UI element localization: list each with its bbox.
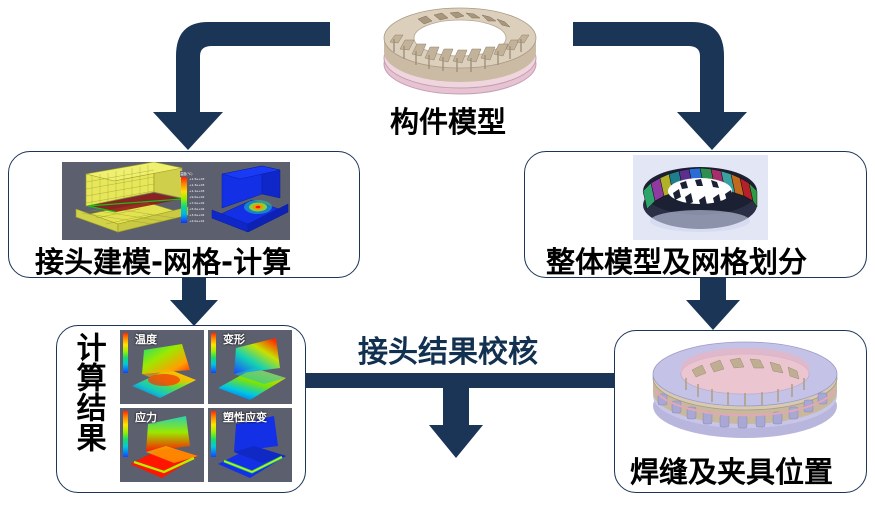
deformation-title: 变形	[223, 331, 245, 347]
plastic-strain-title: 塑性应变	[223, 409, 267, 425]
stress-colorbar	[123, 411, 128, 457]
svg-text:+1.3e+03: +1.3e+03	[189, 183, 205, 187]
global-model-label: 整体模型及网格划分	[546, 239, 807, 281]
stress-result: 应力	[120, 408, 204, 482]
joint-mesh-image: 温度(℃) +1.5e+03 +1.3e+03	[62, 162, 290, 240]
stress-title: 应力	[135, 409, 157, 425]
diagram-canvas: 构件模型	[0, 0, 875, 514]
results-to-weld-bar	[300, 373, 630, 458]
svg-text:+1.5e+03: +1.5e+03	[189, 177, 205, 181]
svg-text:温度(℃): 温度(℃)	[180, 171, 192, 176]
joint-verification-label: 接头结果校核	[358, 327, 538, 371]
svg-text:+7.0e+02: +7.0e+02	[189, 201, 205, 205]
global-to-weld-arrow	[686, 278, 740, 330]
component-model-image	[378, 2, 542, 102]
svg-text:+1.1e+03: +1.1e+03	[189, 189, 205, 193]
component-model-label: 构件模型	[390, 99, 506, 141]
joint-to-results-arrow	[170, 278, 218, 326]
weld-fixture-label: 焊缝及夹具位置	[630, 449, 833, 491]
joint-modeling-label: 接头建模-网格-计算	[35, 239, 291, 281]
svg-text:+5.0e+02: +5.0e+02	[189, 207, 205, 211]
weld-fixture-image	[640, 334, 850, 442]
svg-text:+9.0e+02: +9.0e+02	[189, 195, 205, 199]
deformation-result: 变形	[208, 330, 292, 404]
deformation-colorbar	[211, 333, 216, 373]
temperature-colorbar	[123, 333, 128, 373]
component-to-global-arrow	[573, 22, 747, 150]
component-to-joint-arrow	[153, 22, 330, 150]
results-label: 计算结果	[72, 332, 103, 452]
svg-text:+2.0e+01: +2.0e+01	[189, 219, 205, 223]
global-mesh-image	[633, 155, 768, 240]
svg-text:+3.0e+02: +3.0e+02	[189, 213, 205, 217]
plastic-strain-result: 塑性应变	[208, 408, 292, 482]
plastic-strain-colorbar	[211, 411, 216, 457]
temperature-result: 温度	[120, 330, 204, 404]
temperature-title: 温度	[135, 331, 157, 347]
